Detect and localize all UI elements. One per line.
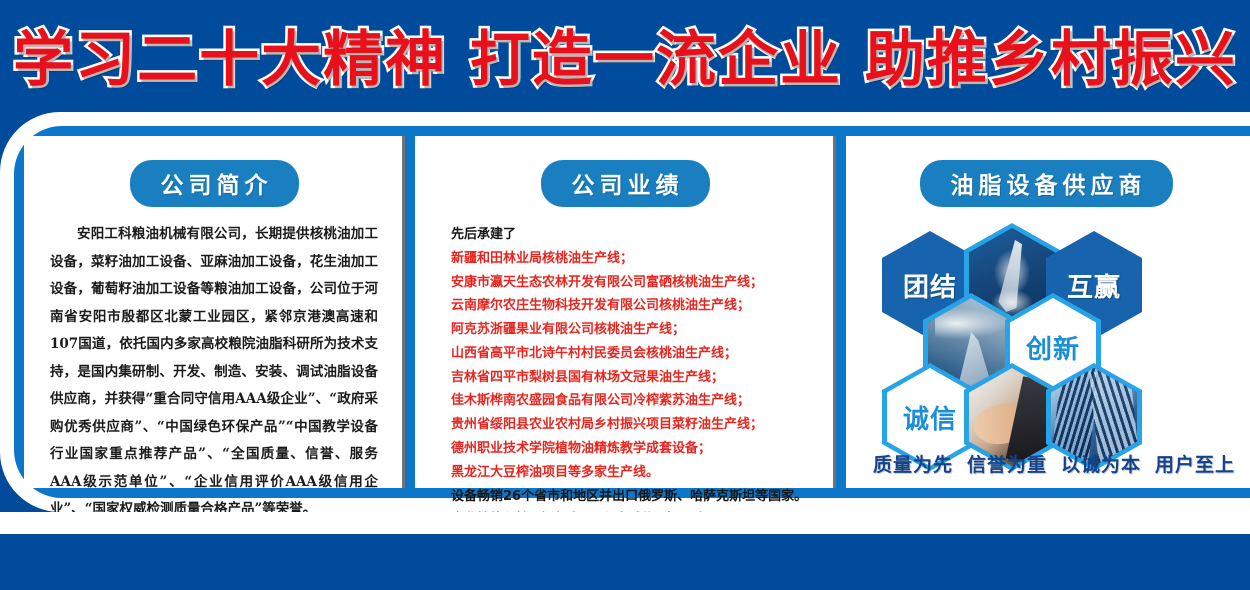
slogan-phrase: 信誉为重 <box>967 454 1047 476</box>
slogan-phrase: 质量为先 <box>873 454 953 476</box>
poster-header: 学习二十大精神 打造一流企业 助推乡村振兴 <box>0 0 1250 108</box>
achievement-item: 吉林省四平市梨树县国有林场文冠果油生产线； <box>451 366 811 390</box>
panel-title-supplier: 油脂设备供应商 <box>920 160 1173 207</box>
panel-divider-2 <box>836 136 846 488</box>
hex-chuangxin-label: 创新 <box>1026 329 1080 366</box>
achievement-item: 山西省高平市北诗午村村民委员会核桃油生产线； <box>451 342 811 366</box>
supplier-slogan: 质量为先信誉为重以诚为本用户至上 <box>864 450 1244 477</box>
page-title: 学习二十大精神 打造一流企业 助推乡村振兴 <box>13 11 1237 98</box>
panel-title-company-achievements: 公司业绩 <box>541 160 710 207</box>
achievement-item: 新疆和田林业局核桃油生产线； <box>451 247 811 271</box>
achievement-item: 德州职业技术学院植物油精炼教学成套设备； <box>451 437 811 461</box>
hex-tuanjie-label: 团结 <box>903 267 957 304</box>
footer-white-band <box>0 512 1250 534</box>
achievements-list: 先后承建了 新疆和田林业局核桃油生产线；安康市瀛天生态农林开发有限公司富硒核桃油… <box>433 223 817 532</box>
company-profile-text: 安阳工科粮油机械有限公司，长期提供核桃油加工设备，菜籽油加工设备、亚麻油加工设备… <box>42 221 386 524</box>
hex-huying-label: 互赢 <box>1067 267 1121 304</box>
panel-divider-1 <box>405 136 415 488</box>
achievements-projects: 新疆和田林业局核桃油生产线；安康市瀛天生态农林开发有限公司富硒核桃油生产线；云南… <box>451 247 811 485</box>
achievement-item: 黑龙江大豆榨油项目等多家生产线。 <box>451 461 811 485</box>
footer-blue-band <box>0 534 1250 590</box>
panel-supplier: 油脂设备供应商 团结 互赢 <box>848 136 1244 488</box>
achievement-item: 云南摩尔农庄生物科技开发有限公司核桃油生产线； <box>451 294 811 318</box>
panel-company-profile: 公司简介 安阳工科粮油机械有限公司，长期提供核桃油加工设备，菜籽油加工设备、亚麻… <box>26 136 402 488</box>
poster-root: 学习二十大精神 打造一流企业 助推乡村振兴 公司简介 安阳工科粮油机械有限公司，… <box>0 0 1250 590</box>
slogan-phrase: 以诚为本 <box>1061 454 1141 476</box>
panel-company-achievements: 公司业绩 先后承建了 新疆和田林业局核桃油生产线；安康市瀛天生态农林开发有限公司… <box>417 136 833 488</box>
achievement-item: 佳木斯桦南农盛园食品有限公司冷榨紫苏油生产线； <box>451 389 811 413</box>
achievement-item: 安康市瀛天生态农林开发有限公司富硒核桃油生产线； <box>451 271 811 295</box>
company-profile-paragraph: 安阳工科粮油机械有限公司，长期提供核桃油加工设备，菜籽油加工设备、亚麻油加工设备… <box>50 221 378 524</box>
slogan-phrase: 用户至上 <box>1155 454 1235 476</box>
achievement-item: 贵州省绥阳县农业农村局乡村振兴项目菜籽油生产线； <box>451 413 811 437</box>
hex-chengxin-label: 诚信 <box>903 399 957 436</box>
achievements-lead: 先后承建了 <box>451 223 811 247</box>
hexagon-honeycomb: 团结 互赢 创新 <box>864 223 1244 473</box>
panel-title-company-profile: 公司简介 <box>130 160 299 207</box>
achievement-closing-line: 设备畅销26个省市和地区并出口俄罗斯、哈萨克斯坦等国家。 <box>451 485 811 509</box>
achievement-item: 阿克苏浙疆果业有限公司核桃油生产线； <box>451 318 811 342</box>
